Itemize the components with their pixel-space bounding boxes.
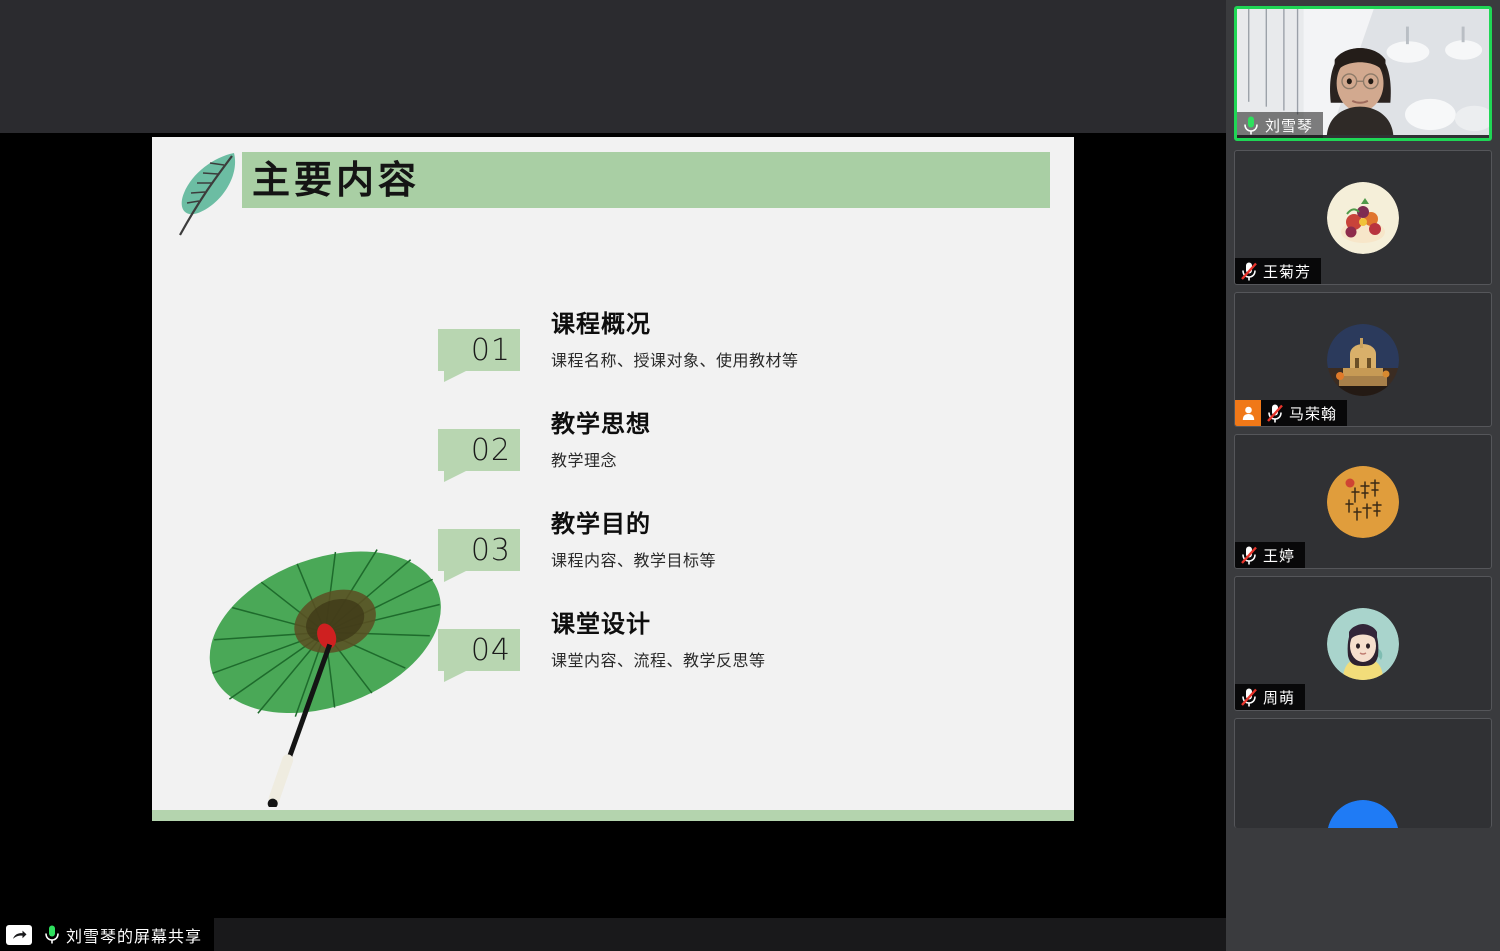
participant-name-badge: 周萌 [1235, 684, 1305, 710]
list-item: 02 教学思想 教学理念 [438, 407, 1038, 507]
item-subtitle: 课程名称、授课对象、使用教材等 [551, 347, 799, 371]
participant-tile[interactable]: 周萌 [1234, 576, 1492, 711]
avatar [1327, 800, 1399, 828]
item-subtitle: 教学理念 [551, 447, 651, 471]
meeting-window: 主要内容 [0, 0, 1500, 951]
parasol-illustration [192, 527, 462, 807]
item-number: 03 [471, 533, 520, 568]
participant-name-badge: 马荣翰 [1235, 400, 1347, 426]
item-text-group: 课程概况 课程名称、授课对象、使用教材等 [551, 307, 799, 371]
item-text-group: 教学目的 课程内容、教学目标等 [551, 507, 716, 571]
slide-title: 主要内容 [252, 155, 420, 205]
participant-name-badge: 王婷 [1235, 542, 1305, 568]
item-text-group: 教学思想 教学理念 [551, 407, 651, 471]
participant-name: 王婷 [1263, 545, 1295, 566]
leaf-icon [174, 147, 246, 239]
item-number: 01 [471, 333, 520, 368]
participant-name-badge: 王菊芳 [1235, 258, 1321, 284]
item-number-badge: 03 [438, 529, 520, 571]
list-item: 01 课程概况 课程名称、授课对象、使用教材等 [438, 307, 1038, 407]
presentation-slide: 主要内容 [152, 137, 1074, 821]
avatar [1327, 324, 1399, 396]
item-number: 02 [471, 433, 520, 468]
participant-sidebar[interactable]: 刘雪琴 [1226, 0, 1500, 951]
item-title: 教学目的 [551, 507, 716, 541]
microphone-on-icon [38, 922, 66, 948]
participant-tile[interactable]: 王菊芳 [1234, 150, 1492, 285]
screen-share-icon [6, 925, 32, 945]
avatar [1327, 466, 1399, 538]
item-text-group: 课堂设计 课堂内容、流程、教学反思等 [551, 607, 766, 671]
microphone-muted-icon [1235, 684, 1263, 710]
microphone-on-icon [1237, 112, 1265, 138]
avatar [1327, 182, 1399, 254]
participant-tile-partial[interactable] [1234, 718, 1492, 828]
microphone-muted-icon [1235, 258, 1263, 284]
microphone-muted-icon [1235, 542, 1263, 568]
slide-bottom-accent-bar [152, 810, 1074, 821]
content-list: 01 课程概况 课程名称、授课对象、使用教材等 02 教学思想 教学理念 0 [438, 307, 1038, 707]
item-title: 课程概况 [551, 307, 799, 341]
item-number-badge: 01 [438, 329, 520, 371]
item-title: 教学思想 [551, 407, 651, 441]
participant-tile-active-speaker[interactable]: 刘雪琴 [1234, 6, 1492, 141]
participant-tile-list: 刘雪琴 [1226, 0, 1500, 835]
participant-tile[interactable]: 王婷 [1234, 434, 1492, 569]
list-item: 03 教学目的 课程内容、教学目标等 [438, 507, 1038, 607]
item-subtitle: 课堂内容、流程、教学反思等 [551, 647, 766, 671]
participant-tile[interactable]: 马荣翰 [1234, 292, 1492, 427]
screen-share-status-bar: 刘雪琴的屏幕共享 [0, 918, 1226, 951]
host-person-icon [1235, 400, 1261, 426]
item-title: 课堂设计 [551, 607, 766, 641]
microphone-muted-icon [1261, 400, 1289, 426]
share-status-pill[interactable]: 刘雪琴的屏幕共享 [0, 918, 214, 951]
share-status-label: 刘雪琴的屏幕共享 [66, 923, 202, 947]
shared-screen-top-strip [0, 0, 1226, 133]
participant-name: 马荣翰 [1289, 403, 1337, 424]
participant-name: 刘雪琴 [1265, 115, 1313, 136]
list-item: 04 课堂设计 课堂内容、流程、教学反思等 [438, 607, 1038, 707]
item-number: 04 [471, 633, 520, 668]
item-number-badge: 04 [438, 629, 520, 671]
avatar [1327, 608, 1399, 680]
participant-name: 周萌 [1263, 687, 1295, 708]
item-number-badge: 02 [438, 429, 520, 471]
participant-name: 王菊芳 [1263, 261, 1311, 282]
item-subtitle: 课程内容、教学目标等 [551, 547, 716, 571]
participant-name-badge: 刘雪琴 [1237, 112, 1323, 138]
